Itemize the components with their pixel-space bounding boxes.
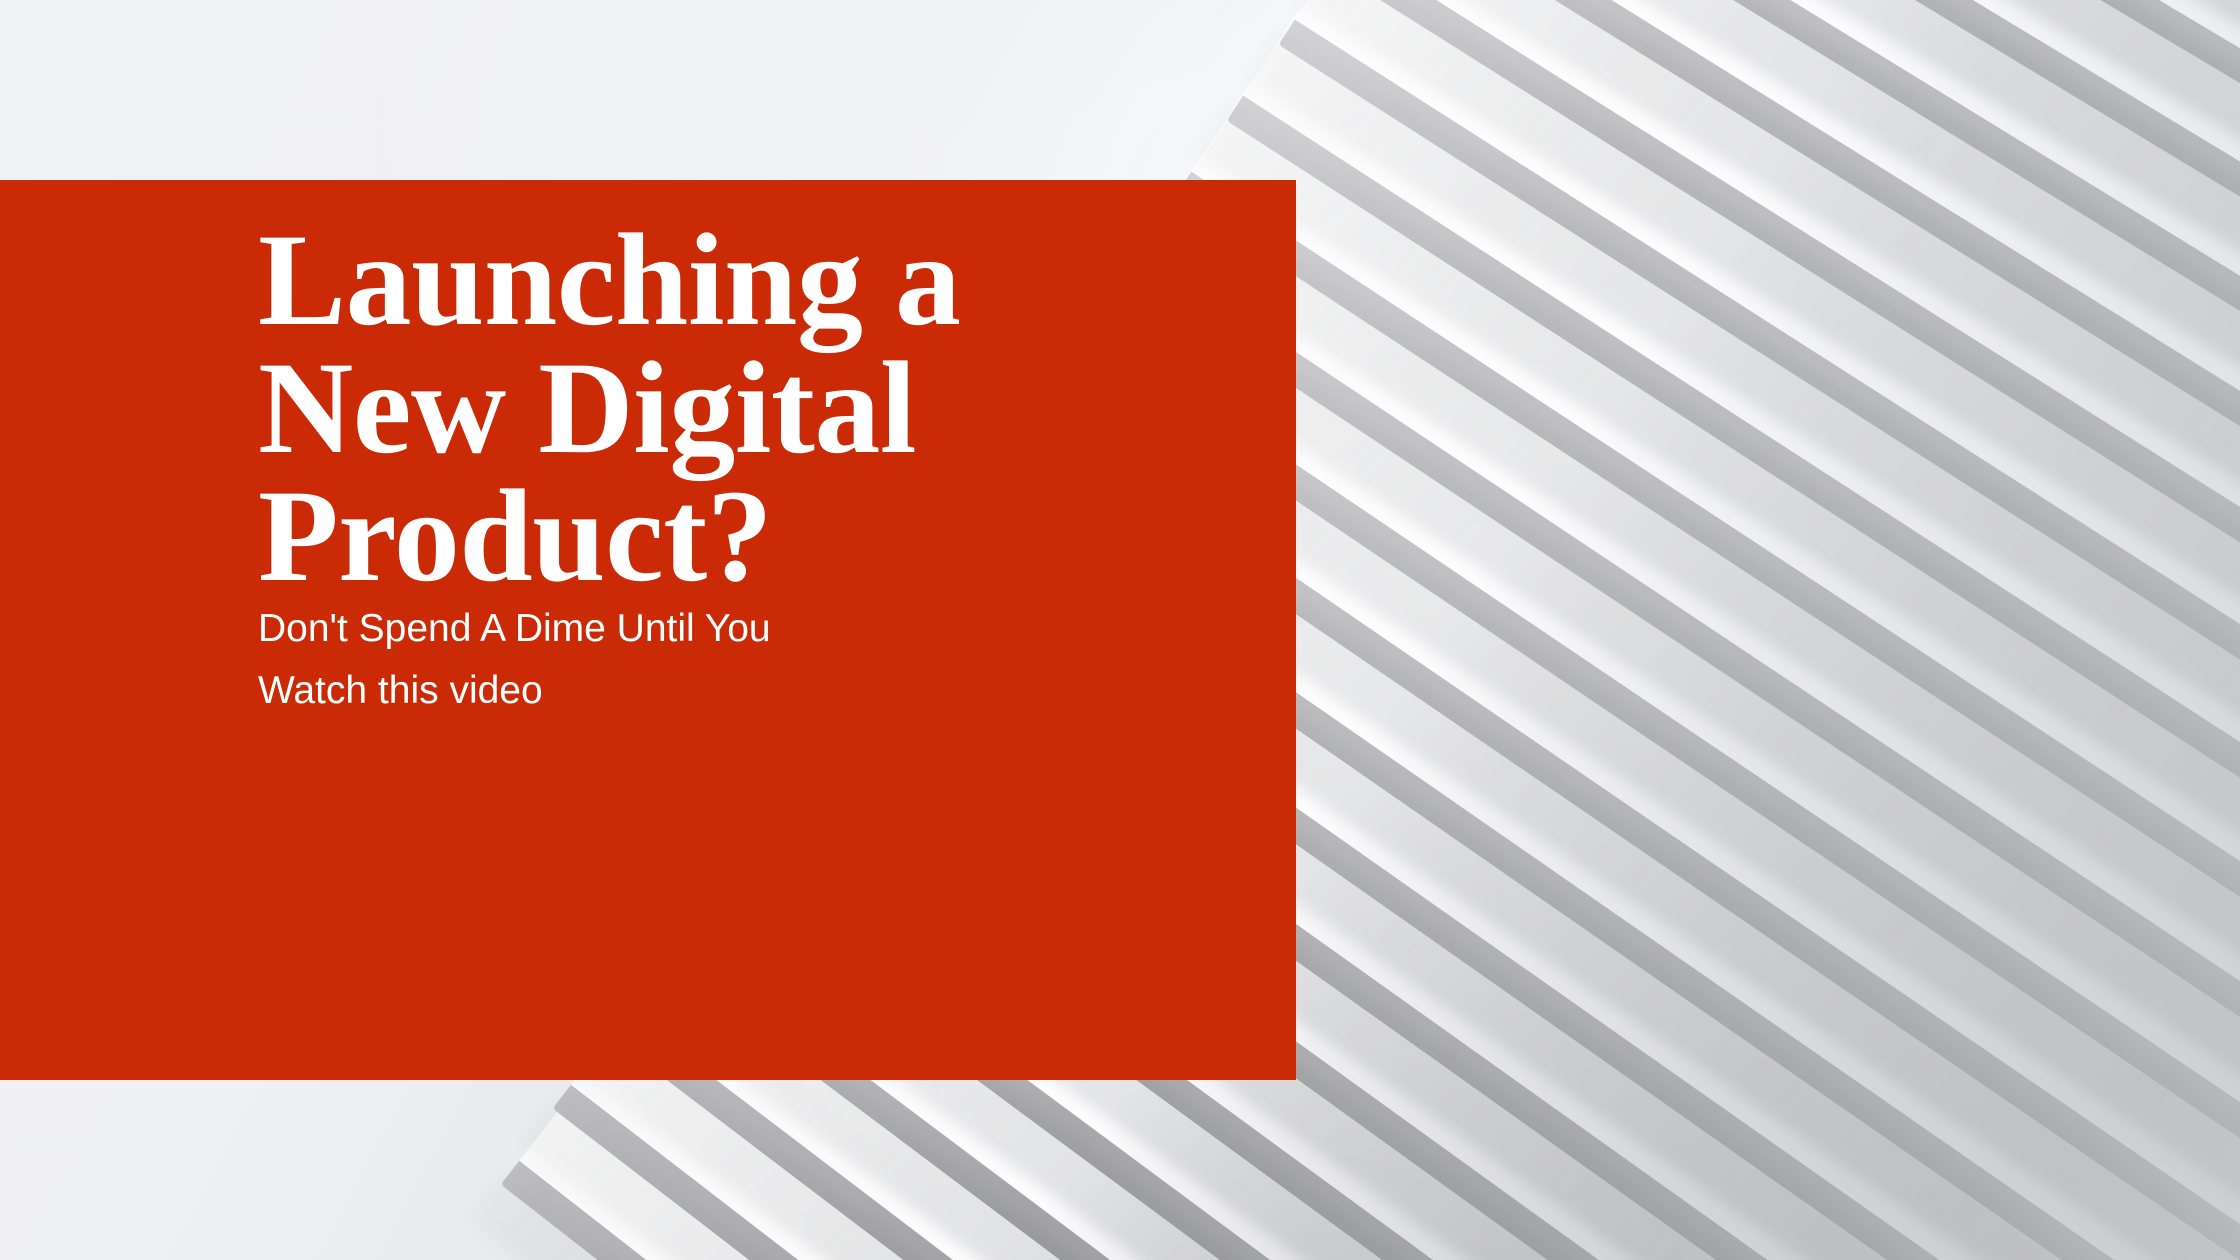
title-panel: Launching a New Digital Product? Don't S… [0,180,1296,1080]
page-subtitle: Don't Spend A Dime Until You Watch this … [258,598,1256,722]
subtitle-line-2: Watch this video [258,660,1256,722]
subtitle-line-1: Don't Spend A Dime Until You [258,598,1256,660]
title-line-3: Product? [258,472,1256,600]
title-panel-content: Launching a New Digital Product? Don't S… [258,180,1256,1080]
title-line-1: Launching a [258,216,1256,344]
title-slide: Launching a New Digital Product? Don't S… [0,0,2240,1260]
page-title: Launching a New Digital Product? [258,216,1256,600]
title-line-2: New Digital [258,344,1256,472]
